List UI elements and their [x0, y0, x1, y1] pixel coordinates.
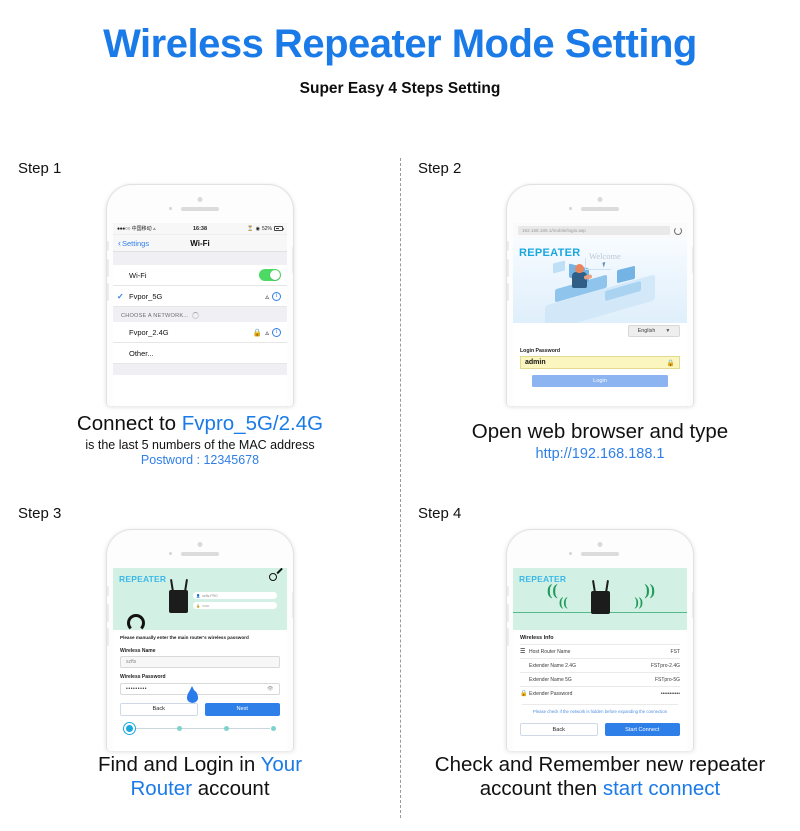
alarm-icon: ⏳: [247, 226, 253, 232]
signal-wave-right-outer-icon: )): [644, 582, 655, 600]
gear-icon: [127, 614, 145, 632]
front-camera-icon: [198, 197, 203, 202]
back-button[interactable]: Back: [520, 723, 598, 736]
power-button: [692, 247, 694, 273]
repeater-brand-logo: REPEATER: [119, 574, 166, 584]
caption-plain-1: Find and Login in: [98, 753, 261, 776]
login-password-input[interactable]: admin 🔒: [520, 356, 680, 369]
sensor-dot-icon: [569, 207, 572, 210]
step-2-caption: Open web browser and type http://192.168…: [400, 420, 800, 462]
volume-up-button: [107, 259, 109, 277]
step-1-phone: ●●●○○ 中国移动 ▵ 16:38 ⏳ ◉ 52% ‹ S: [106, 184, 294, 406]
front-camera-icon: [598, 542, 603, 547]
signal-wave-left-outer-icon: ((: [547, 582, 558, 600]
step-3-label: Step 3: [18, 505, 61, 522]
step-4-phone: REPEATER (( (( )) )) Wireless Info ☰ Hos…: [506, 529, 694, 751]
table-row: 🔒 Extender Password •••••••••••: [520, 686, 680, 700]
row-value: FSTpro-2.4G: [651, 663, 680, 669]
step-4-button-row: Back Start Connect: [520, 723, 680, 736]
step-3-cell: Step 3 REPEATER 👤 szfts-PRO: [0, 495, 400, 831]
hidden-network-note: Please check if the network is hidden be…: [522, 704, 678, 715]
step-4-label: Step 4: [418, 505, 461, 522]
battery-icon: [274, 226, 283, 231]
step-3-hero-banner: REPEATER 👤 szfts-PRO 🔒 ••••••: [113, 568, 287, 630]
steps-grid: Step 1 ●●●○○ 中国移动 ▵ 16:38 ⏳: [0, 150, 800, 822]
step-2-phone: 192.168.188.1/mobile/login.asp REPEATER …: [506, 184, 694, 406]
volume-up-button: [107, 604, 109, 622]
progress-dot-2: [177, 726, 182, 731]
login-password-label: Login Password: [520, 348, 680, 354]
step-3-form: Please manually enter the main router's …: [113, 630, 287, 734]
step-1-screen: ●●●○○ 中国移动 ▵ 16:38 ⏳ ◉ 52% ‹ S: [113, 223, 287, 406]
caption-highlight-1: Your: [261, 753, 302, 776]
page-header: Wireless Repeater Mode Setting Super Eas…: [0, 22, 800, 98]
wireless-password-label: Wireless Password: [120, 674, 280, 680]
step-4-caption-main: Check and Remember new repeater account …: [400, 753, 800, 801]
caption-plain: Connect to: [77, 412, 182, 435]
illustration-person-body: [572, 272, 587, 288]
water-drop-pointer-icon: [187, 690, 198, 703]
wireless-info-title: Wireless Info: [520, 635, 680, 641]
reload-icon[interactable]: [674, 227, 682, 235]
row-value: •••••••••••: [661, 691, 680, 697]
mute-switch: [107, 586, 109, 596]
step-1-caption-sub: is the last 5 numbers of the MAC address: [0, 438, 400, 452]
progress-dot-4: [271, 726, 276, 731]
illustration-panel: [553, 261, 565, 274]
volume-up-button: [507, 604, 509, 622]
page-subtitle: Super Easy 4 Steps Setting: [0, 80, 800, 98]
power-button: [692, 592, 694, 618]
step-3-button-row: Back Next: [120, 703, 280, 716]
list-footer-spacer: [113, 364, 287, 375]
language-selected-value: English: [638, 328, 656, 334]
earpiece-speaker-icon: [181, 207, 219, 211]
step-2-screen: 192.168.188.1/mobile/login.asp REPEATER …: [513, 223, 687, 406]
network-row-24g[interactable]: Fvpor_2.4G 🔒 ▵ i: [113, 322, 287, 343]
nav-title: Wi-Fi: [190, 239, 209, 248]
volume-down-button: [507, 628, 509, 646]
row-label: Extender Name 2.4G: [529, 663, 576, 669]
mute-switch: [507, 586, 509, 596]
step-3-phone: REPEATER 👤 szfts-PRO 🔒 ••••••: [106, 529, 294, 751]
step-2-caption-link: http://192.168.188.1: [400, 446, 800, 462]
choose-network-label: CHOOSE A NETWORK...: [121, 313, 189, 319]
step-1-caption-main: Connect to Fvpro_5G/2.4G: [0, 412, 400, 436]
sensor-dot-icon: [169, 207, 172, 210]
battery-percent: 52%: [262, 226, 272, 232]
network-row-other[interactable]: Other...: [113, 343, 287, 364]
loading-spinner-icon: [192, 312, 199, 319]
repeater-device-icon: [169, 590, 188, 613]
repeater-brand-logo: REPEATER: [519, 574, 566, 584]
progress-dots: [120, 723, 280, 734]
repeater-hero-banner: REPEATER Welcome: [513, 238, 687, 323]
router-icon: ☰: [520, 648, 529, 655]
wireless-name-input[interactable]: szfts: [120, 656, 280, 668]
mute-switch: [107, 241, 109, 251]
step-3-caption: Find and Login in Your Router account: [0, 753, 400, 801]
language-select[interactable]: English ▼: [628, 325, 680, 337]
signal-wave-right-inner-icon: )): [634, 594, 643, 610]
step-1-cell: Step 1 ●●●○○ 中国移动 ▵ 16:38 ⏳: [0, 150, 400, 486]
ios-nav-bar: ‹ Settings Wi-Fi: [113, 235, 287, 252]
caption-plain-2: account: [192, 777, 270, 800]
network-name: Other...: [129, 349, 154, 358]
table-row: Extender Name 5G FSTpro-5G: [520, 672, 680, 686]
step-4-screen: REPEATER (( (( )) )) Wireless Info ☰ Hos…: [513, 568, 687, 751]
mini-password-field: 🔒 ••••••: [193, 602, 277, 609]
lock-icon: 🔒: [667, 359, 675, 367]
male-symbol-icon: [269, 573, 277, 581]
caption-plain-1: Check and Remember new repeater: [435, 753, 765, 776]
ios-status-bar: ●●●○○ 中国移动 ▵ 16:38 ⏳ ◉ 52%: [113, 223, 287, 235]
row-label: Extender Password: [529, 691, 572, 697]
lock-icon: 🔒: [253, 328, 262, 337]
step-2-label: Step 2: [418, 160, 461, 177]
repeater-brand-logo: REPEATER: [519, 247, 580, 259]
step-3-caption-main: Find and Login in Your Router account: [0, 753, 400, 801]
earpiece-speaker-icon: [181, 552, 219, 556]
front-camera-icon: [198, 542, 203, 547]
sensor-dot-icon: [169, 552, 172, 555]
wifi-signal-icon: ▵: [265, 328, 269, 337]
caption-highlight-2: Router: [130, 777, 192, 800]
step-4-hero-banner: REPEATER (( (( )) )): [513, 568, 687, 630]
step-4-caption: Check and Remember new repeater account …: [400, 753, 800, 801]
network-name: Fvpor_5G: [129, 292, 162, 301]
row-label: Host Router Name: [529, 649, 570, 655]
repeater-device-icon: [591, 591, 610, 614]
lock-icon: 🔒: [196, 604, 200, 608]
progress-dot-1: [124, 723, 135, 734]
rotation-lock-icon: ◉: [256, 226, 260, 232]
row-value: FSTpro-5G: [655, 677, 680, 683]
back-label: Settings: [122, 239, 149, 248]
sensor-dot-icon: [569, 552, 572, 555]
earpiece-speaker-icon: [581, 207, 619, 211]
step-2-cell: Step 2 192.168.188.1/mobile/login.asp RE…: [400, 150, 800, 486]
step-1-password-note: Postword : 12345678: [0, 453, 400, 467]
eye-icon[interactable]: 👁: [267, 686, 274, 692]
checkmark-icon: ✓: [117, 292, 124, 301]
status-time: 16:38: [193, 226, 207, 232]
network-row-connected[interactable]: ✓ Fvpor_5G ▵ i: [113, 286, 287, 307]
carrier-label: 中国移动: [132, 225, 152, 232]
signal-dots-icon: ●●●○○: [117, 226, 130, 232]
illustration-person-head: [575, 264, 584, 273]
volume-down-button: [507, 283, 509, 301]
user-icon: 👤: [196, 594, 200, 598]
wifi-toggle-row[interactable]: Wi-Fi: [113, 265, 287, 286]
step-1-caption: Connect to Fvpro_5G/2.4G is the last 5 n…: [0, 412, 400, 467]
step-4-cell: Step 4 REPEATER (( (( )) )): [400, 495, 800, 831]
power-button: [292, 247, 294, 273]
back-button[interactable]: Back: [120, 703, 198, 716]
login-password-value: admin: [525, 359, 546, 366]
earpiece-speaker-icon: [581, 552, 619, 556]
mini-username-field: 👤 szfts-PRO: [193, 592, 277, 599]
table-row: ☰ Host Router Name FST: [520, 644, 680, 658]
page-title: Wireless Repeater Mode Setting: [0, 22, 800, 67]
login-form: English ▼ Login Password admin 🔒 Login: [513, 323, 687, 387]
step-3-screen: REPEATER 👤 szfts-PRO 🔒 ••••••: [113, 568, 287, 751]
front-camera-icon: [598, 197, 603, 202]
choose-network-header: CHOOSE A NETWORK...: [113, 307, 287, 322]
caption-plain-2: account then: [480, 777, 603, 800]
manual-entry-hint: Please manually enter the main router's …: [120, 635, 280, 642]
chevron-left-icon: ‹: [118, 239, 121, 248]
volume-down-button: [107, 283, 109, 301]
lock-icon: 🔒: [520, 690, 529, 697]
wireless-name-label: Wireless Name: [120, 648, 280, 654]
row-label: Extender Name 5G: [529, 677, 572, 683]
list-spacer: [113, 252, 287, 265]
table-row: Extender Name 2.4G FSTpro-2.4G: [520, 658, 680, 672]
progress-line: [132, 728, 270, 729]
next-button[interactable]: Next: [205, 703, 281, 716]
row-value: FST: [671, 649, 680, 655]
wifi-icon: ▵: [153, 226, 156, 232]
mute-switch: [507, 241, 509, 251]
browser-toolbar: 192.168.188.1/mobile/login.asp: [513, 223, 687, 238]
wireless-password-value: •••••••••: [126, 686, 147, 692]
signal-wave-left-inner-icon: ((: [559, 594, 568, 610]
wifi-signal-icon: ▵: [265, 292, 269, 301]
progress-dot-3: [224, 726, 229, 731]
wifi-row-label: Wi-Fi: [129, 271, 147, 280]
start-connect-button[interactable]: Start Connect: [605, 723, 681, 736]
chevron-down-icon: ▼: [665, 328, 670, 334]
volume-up-button: [507, 259, 509, 277]
power-button: [292, 592, 294, 618]
caption-highlight: start connect: [603, 777, 720, 800]
mini-password-value: ••••••: [202, 604, 209, 608]
info-icon[interactable]: i: [272, 292, 281, 301]
wireless-password-input[interactable]: ••••••••• 👁: [120, 683, 280, 695]
back-to-settings-button[interactable]: ‹ Settings: [118, 239, 149, 248]
url-input[interactable]: 192.168.188.1/mobile/login.asp: [518, 226, 670, 235]
step-1-label: Step 1: [18, 160, 61, 177]
mini-username-value: szfts-PRO: [202, 594, 217, 598]
wireless-info-panel: Wireless Info ☰ Host Router Name FST Ext…: [513, 630, 687, 736]
volume-down-button: [107, 628, 109, 646]
wifi-toggle[interactable]: [259, 269, 281, 282]
login-button[interactable]: Login: [532, 375, 668, 387]
info-icon[interactable]: i: [272, 328, 281, 337]
network-name: Fvpor_2.4G: [129, 328, 169, 337]
caption-highlight: Fvpro_5G/2.4G: [182, 412, 323, 435]
step-2-caption-main: Open web browser and type: [400, 420, 800, 444]
